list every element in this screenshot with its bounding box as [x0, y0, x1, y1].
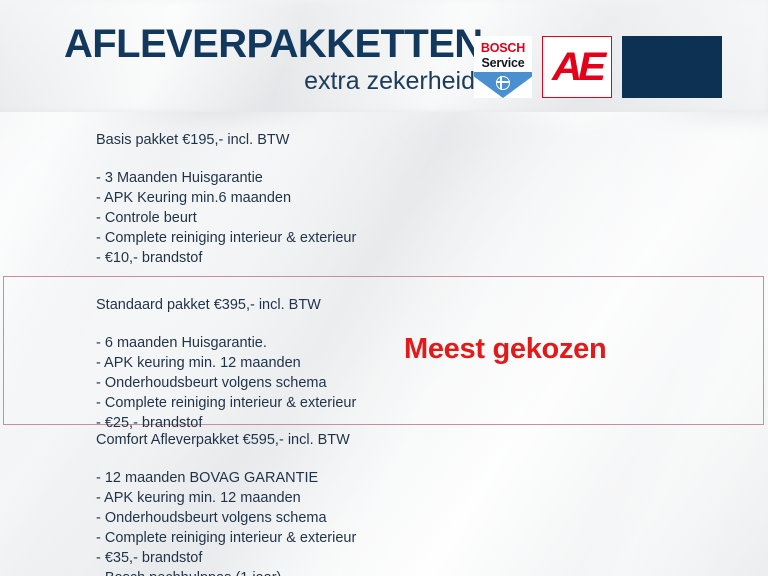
- bosch-service-label: Service: [474, 56, 532, 70]
- package-basis: Basis pakket €195,- incl. BTW - 3 Maande…: [0, 132, 768, 268]
- list-item: - Controle beurt: [96, 208, 768, 228]
- list-item: - €10,- brandstof: [96, 248, 768, 268]
- list-item: - Complete reiniging interieur & exterie…: [96, 228, 768, 248]
- list-item: - 12 maanden BOVAG GARANTIE: [96, 468, 768, 488]
- list-item: - Complete reiniging interieur & exterie…: [96, 528, 768, 548]
- list-item: - 3 Maanden Huisgarantie: [96, 168, 768, 188]
- list-item: - APK keuring min. 12 maanden: [96, 488, 768, 508]
- package-feature-list: - 3 Maanden Huisgarantie - APK Keuring m…: [96, 168, 768, 268]
- package-title: Standaard pakket €395,- incl. BTW: [96, 297, 768, 313]
- ae-logo: AE: [542, 36, 612, 98]
- list-item: - €35,- brandstof: [96, 548, 768, 568]
- bosch-service-logo: BOSCH Service: [474, 36, 532, 98]
- slide-canvas: AFLEVERPAKKETTEN extra zekerheid BOSCH S…: [0, 0, 768, 576]
- list-item: - APK Keuring min.6 maanden: [96, 188, 768, 208]
- ae-wordmark: AE: [541, 37, 612, 97]
- header-banner: AFLEVERPAKKETTEN extra zekerheid BOSCH S…: [0, 0, 768, 112]
- list-item: - Complete reiniging interieur & exterie…: [96, 393, 768, 413]
- package-title: Basis pakket €195,- incl. BTW: [96, 132, 768, 148]
- list-item: - Onderhoudsbeurt volgens schema: [96, 508, 768, 528]
- list-item: - Onderhoudsbeurt volgens schema: [96, 373, 768, 393]
- list-item: - Bosch pechhulppas (1 jaar): [96, 568, 768, 576]
- navy-logo-block: [622, 36, 722, 98]
- package-feature-list: - 12 maanden BOVAG GARANTIE - APK keurin…: [96, 468, 768, 576]
- brand-lockup: AFLEVERPAKKETTEN extra zekerheid: [64, 24, 476, 95]
- list-item: - €25,- brandstof: [96, 413, 768, 433]
- page-title: AFLEVERPAKKETTEN: [64, 24, 476, 64]
- bosch-armature-icon: [496, 76, 510, 90]
- page-subtitle: extra zekerheid: [64, 67, 476, 95]
- package-comfort: Comfort Afleverpakket €595,- incl. BTW -…: [0, 432, 768, 576]
- bosch-wordmark: BOSCH: [474, 41, 532, 55]
- package-standaard: Standaard pakket €395,- incl. BTW - 6 ma…: [0, 297, 768, 433]
- package-title: Comfort Afleverpakket €595,- incl. BTW: [96, 432, 768, 448]
- most-chosen-badge: Meest gekozen: [404, 333, 606, 365]
